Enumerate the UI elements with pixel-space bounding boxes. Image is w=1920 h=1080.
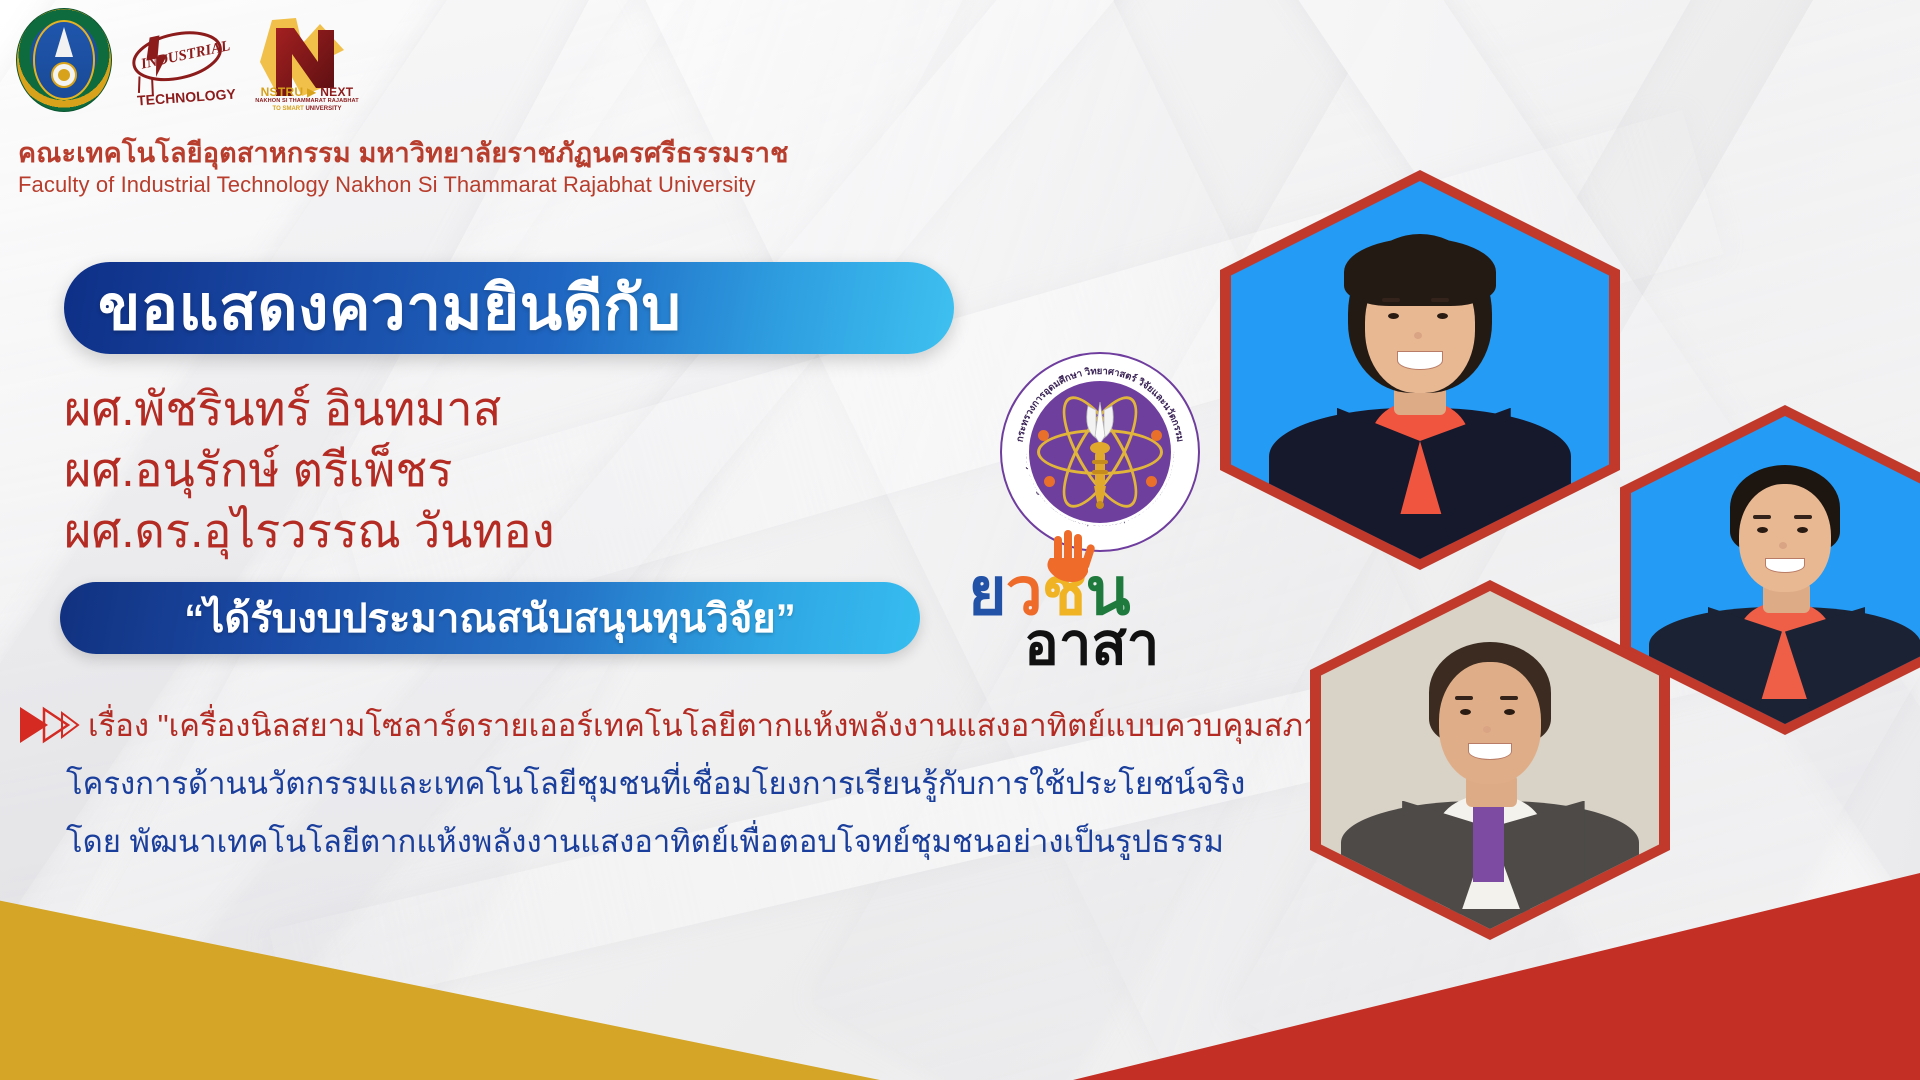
faculty-name-block: คณะเทคโนโลยีอุตสาหกรรม มหาวิทยาลัยราชภัฏ… — [18, 138, 789, 197]
project-objective-line: โดย พัฒนาเทคโนโลยีตากแห้งพลังงานแสงอาทิต… — [66, 816, 1418, 866]
nstru-next-logo-icon: NSTRU ▶ NEXT NAKHON SI THAMMARAT RAJABHA… — [246, 10, 366, 128]
double-arrow-icon — [18, 703, 80, 747]
research-grant-banner: “ได้รับงบประมาณสนับสนุนทุนวิจัย” — [60, 582, 920, 654]
raised-hand-icon — [1040, 528, 1100, 588]
ministry-higher-education-seal-icon: กระทรวงการอุดมศึกษา วิทยาศาสตร์ วิจัยและ… — [1000, 352, 1200, 552]
faculty-name-thai: คณะเทคโนโลยีอุตสาหกรรม มหาวิทยาลัยราชภัฏ… — [18, 138, 789, 169]
nstru-next-line3-b: UNIVERSITY — [305, 106, 341, 112]
faculty-name-english: Faculty of Industrial Technology Nakhon … — [18, 172, 789, 197]
congratulations-banner: ขอแสดงความยินดีกับ — [64, 262, 954, 354]
nstru-next-line1-a: NSTRU — [261, 85, 304, 99]
nstru-university-seal-icon — [16, 8, 112, 112]
header-logo-group: INDUSTRIAL TECHNOLOGY — [16, 8, 366, 128]
honoree-name-2: ผศ.อนุรักษ์ ตรีเพ็ชร — [64, 439, 555, 500]
yuwa-char-yo: ย — [968, 554, 1006, 628]
nstru-next-line2: NAKHON SI THAMMARAT RAJABHAT — [248, 99, 366, 105]
trident-emblem-icon — [1080, 400, 1120, 510]
research-grant-text: “ได้รับงบประมาณสนับสนุนทุนวิจัย” — [184, 586, 795, 650]
yuwa-char-wo: ว — [1006, 554, 1042, 628]
project-description-block: เรื่อง "เครื่องนิลสยามโซลาร์ดรายเออร์เทค… — [18, 700, 1418, 866]
project-title-line: เรื่อง "เครื่องนิลสยามโซลาร์ดรายเออร์เทค… — [88, 700, 1374, 750]
project-program-line: โครงการด้านนวัตกรรมและเทคโนโลยีชุมชนที่เ… — [66, 758, 1418, 808]
poster-canvas: INDUSTRIAL TECHNOLOGY — [0, 0, 1920, 1080]
honoree-name-1: ผศ.พัชรินทร์ อินทมาส — [64, 378, 555, 439]
yuwachon-asa-wordmark: ยวชน อาสา — [968, 560, 1238, 670]
honoree-name-list: ผศ.พัชรินทร์ อินทมาส ผศ.อนุรักษ์ ตรีเพ็ช… — [64, 378, 555, 561]
nstru-next-line1-b: NEXT — [320, 85, 353, 99]
congratulations-text: ขอแสดงความยินดีกับ — [64, 259, 681, 357]
honoree-name-3: ผศ.ดร.อุไรวรรณ วันทอง — [64, 500, 555, 561]
nstru-next-line3-a: TO SMART — [273, 106, 306, 112]
industrial-technology-logo-icon: INDUSTRIAL TECHNOLOGY — [120, 22, 238, 108]
